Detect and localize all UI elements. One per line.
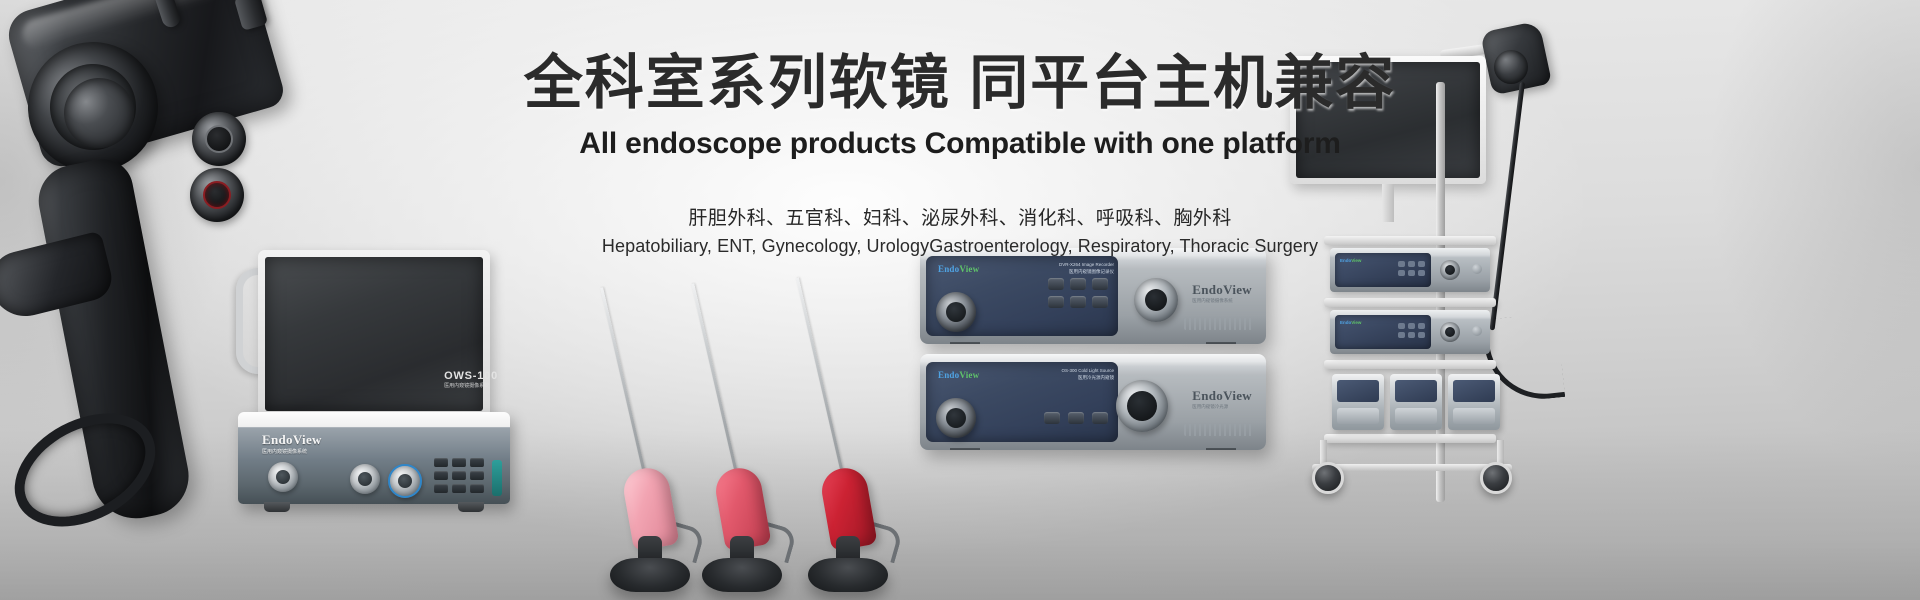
banner-text-block: 全科室系列软镜 同平台主机兼容 All endoscope products C… <box>0 54 1920 257</box>
recorder-brand-sublabel: 医用内窥镜摄像系统 <box>1192 298 1252 304</box>
cart-shelf-2 <box>1324 298 1496 307</box>
dial-center <box>1445 265 1455 275</box>
cart-unit-2-panel: EndoView <box>1335 315 1431 349</box>
recorder-panel-subtitle: 医用内窥镜图像记录仪 <box>1069 269 1114 274</box>
cart-shelf-3 <box>1324 360 1496 369</box>
recorder-usb-port <box>1134 278 1178 322</box>
light-source-foot-right <box>1206 448 1236 450</box>
light-source-panel-caption: OS-300 Cold Light Source 医用冷光源内窥镜 <box>1022 368 1114 382</box>
forceps-display-stand <box>808 558 888 592</box>
processor-stack: EndoView DVR-X264 Image Recorder 医用内窥镜图像… <box>920 248 1280 468</box>
button <box>1408 323 1415 329</box>
image-recorder-unit: EndoView DVR-X264 Image Recorder 医用内窥镜图像… <box>920 248 1266 344</box>
cart-unit-1-panel: EndoView <box>1335 253 1431 287</box>
cart-processor-unit-2: EndoView <box>1330 310 1490 354</box>
logo-part-view: View <box>959 370 979 380</box>
logo-part-view: View <box>1351 258 1361 263</box>
keypad-key <box>1070 296 1086 308</box>
headline-chinese: 全科室系列软镜 同平台主机兼容 <box>0 54 1920 113</box>
button <box>1408 270 1415 276</box>
light-source-panel-title: OS-300 Cold Light Source <box>1061 368 1114 373</box>
workstation-model-text: OWS-100 <box>444 370 498 382</box>
button <box>1418 323 1425 329</box>
keypad-key <box>434 484 448 493</box>
keypad-key <box>1068 412 1084 424</box>
keypad-key <box>470 484 484 493</box>
cart-unit-2-buttons <box>1398 323 1425 338</box>
light-source-foot-left <box>950 448 980 450</box>
specialties-chinese: 肝胆外科、五官科、妇科、泌尿外科、消化科、呼吸科、胸外科 <box>0 203 1920 230</box>
cart-unit-1-logo: EndoView <box>1340 258 1361 263</box>
cart-unit-2-dial <box>1440 322 1460 342</box>
recorder-keypad <box>1048 278 1108 308</box>
workstation-model-sublabel: 医用内窥镜摄像系统 <box>444 382 498 389</box>
recorder-foot-left <box>950 342 980 344</box>
recorder-front-panel: EndoView DVR-X264 Image Recorder 医用内窥镜图像… <box>926 256 1118 336</box>
keypad-key <box>434 471 448 480</box>
subheadline-english: All endoscope products Compatible with o… <box>0 127 1920 161</box>
forceps-display-stand <box>702 558 782 592</box>
recorder-panel-title: DVR-X264 Image Recorder <box>1059 262 1114 267</box>
keypad-key <box>470 458 484 467</box>
keypad-key <box>434 458 448 467</box>
light-source-front-panel: EndoView OS-300 Cold Light Source 医用冷光源内… <box>926 362 1118 442</box>
cart-accessory-box-3 <box>1448 374 1500 430</box>
socket-center <box>946 408 966 428</box>
keypad-key <box>470 471 484 480</box>
recorder-scope-socket <box>936 292 976 332</box>
accessory-box-3-tray <box>1453 408 1495 424</box>
cart-caster-right <box>1480 462 1512 494</box>
light-source-brand-sublabel: 医用内窥镜冷光源 <box>1192 404 1252 410</box>
forceps-display-stand <box>610 558 690 592</box>
keypad-key <box>452 484 466 493</box>
cart-unit-2-logo: EndoView <box>1340 320 1361 325</box>
keypad-key <box>1048 296 1064 308</box>
keypad-key <box>1048 278 1064 290</box>
light-source-vent-grille <box>1184 424 1254 436</box>
workstation-model-label: OWS-100 医用内窥镜摄像系统 <box>444 370 498 389</box>
recorder-brand-text: EndoView <box>1192 282 1252 298</box>
light-source-fiber-socket <box>936 398 976 438</box>
cart-unit-1-power-button <box>1472 264 1482 274</box>
light-source-brand-logo: EndoView <box>938 370 979 380</box>
recorder-brand-logo: EndoView <box>938 264 979 274</box>
button <box>1398 323 1405 329</box>
light-source-keypad <box>1044 412 1110 424</box>
keypad-key <box>1092 412 1108 424</box>
keypad-key <box>452 471 466 480</box>
cart-accessory-box-1 <box>1332 374 1384 430</box>
button <box>1418 270 1425 276</box>
button <box>1398 270 1405 276</box>
keypad-key <box>1070 278 1086 290</box>
accessory-box-1-tray <box>1337 408 1379 424</box>
endoscope-product-banner: 全科室系列软镜 同平台主机兼容 All endoscope products C… <box>0 0 1920 600</box>
button <box>1418 332 1425 338</box>
logo-part-endo: Endo <box>938 264 959 274</box>
cart-unit-2-power-button <box>1472 326 1482 336</box>
accessory-box-2-tray <box>1395 408 1437 424</box>
recorder-panel-caption: DVR-X264 Image Recorder 医用内窥镜图像记录仪 <box>1022 262 1114 276</box>
recorder-brand-label: EndoView 医用内窥镜摄像系统 <box>1192 282 1252 304</box>
workstation-foot-right <box>458 502 484 512</box>
keypad-key <box>1092 278 1108 290</box>
workstation-keypad <box>434 458 484 493</box>
cart-unit-1-buttons <box>1398 261 1425 276</box>
cart-unit-1-dial <box>1440 260 1460 280</box>
button <box>1408 332 1415 338</box>
button <box>1418 261 1425 267</box>
keypad-key <box>452 458 466 467</box>
laparoscopic-forceps-red <box>788 280 908 600</box>
cart-caster-left <box>1312 462 1344 494</box>
dial-center <box>1445 327 1455 337</box>
light-source-brightness-dial <box>1116 380 1168 432</box>
cart-accessory-box-2 <box>1390 374 1442 430</box>
button <box>1408 261 1415 267</box>
logo-part-endo: Endo <box>1340 320 1351 325</box>
workstation-indicator-strip <box>492 460 502 496</box>
port-center <box>398 474 412 488</box>
logo-part-endo: Endo <box>1340 258 1351 263</box>
accessory-box-3-face <box>1453 380 1495 402</box>
accessory-box-2-face <box>1395 380 1437 402</box>
laparoscopic-forceps-rose <box>682 290 802 600</box>
accessory-box-1-face <box>1337 380 1379 402</box>
specialties-english: Hepatobiliary, ENT, Gynecology, UrologyG… <box>0 236 1920 257</box>
logo-part-endo: Endo <box>938 370 959 380</box>
button <box>1398 332 1405 338</box>
cart-leg-assembly <box>1312 434 1512 494</box>
logo-part-view: View <box>1351 320 1361 325</box>
recorder-vent-grille <box>1184 318 1254 330</box>
button <box>1398 261 1405 267</box>
keypad-key <box>1044 412 1060 424</box>
cold-light-source-unit: EndoView OS-300 Cold Light Source 医用冷光源内… <box>920 354 1266 450</box>
logo-part-view: View <box>959 264 979 274</box>
port-center <box>1145 289 1167 311</box>
light-source-brand-label: EndoView 医用内窥镜冷光源 <box>1192 388 1252 410</box>
dial-center <box>1127 391 1157 421</box>
light-source-brand-text: EndoView <box>1192 388 1252 404</box>
keypad-key <box>1092 296 1108 308</box>
light-source-panel-subtitle: 医用冷光源内窥镜 <box>1078 375 1114 380</box>
recorder-foot-right <box>1206 342 1236 344</box>
socket-center <box>946 302 966 322</box>
